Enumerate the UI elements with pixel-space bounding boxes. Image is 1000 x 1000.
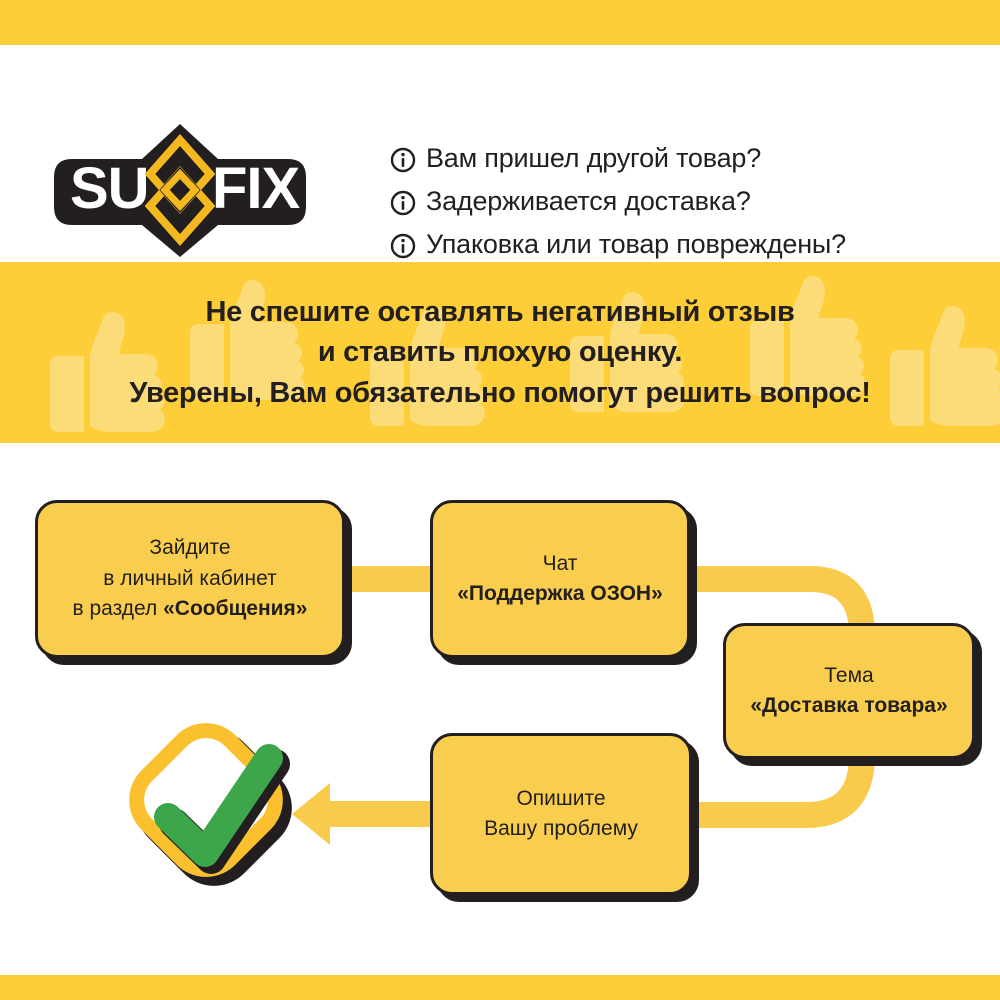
bottom-accent-bar	[0, 975, 1000, 1000]
node-line-normal: в раздел	[72, 597, 163, 620]
info-icon	[390, 233, 416, 259]
node-line-bold: «Сообщения»	[163, 597, 307, 620]
question-row: Вам пришел другой товар?	[390, 137, 990, 180]
banner-text-block: Не спешите оставлять негативный отзыв и …	[0, 262, 1000, 443]
flow-node-chat[interactable]: Чат «Поддержка ОЗОН»	[430, 500, 690, 658]
flowchart-section: Зайдите в личный кабинет в раздел «Сообщ…	[0, 443, 1000, 975]
flow-node-topic[interactable]: Тема «Доставка товара»	[723, 623, 975, 759]
node-line: Тема	[824, 661, 873, 691]
svg-text:SU: SU	[70, 156, 149, 221]
banner-line: Уверены, Вам обязательно помогут решить …	[129, 375, 870, 411]
question-text: Вам пришел другой товар?	[426, 143, 761, 174]
infographic-root: SU FIX	[0, 0, 1000, 1000]
node-line: в раздел «Сообщения»	[72, 594, 307, 624]
check-mark-badge-icon	[113, 713, 313, 908]
question-text: Задерживается доставка?	[426, 186, 751, 217]
question-row: Упаковка или товар повреждены?	[390, 223, 990, 266]
svg-text:FIX: FIX	[212, 156, 301, 221]
question-row: Задерживается доставка?	[390, 180, 990, 223]
flow-node-account[interactable]: Зайдите в личный кабинет в раздел «Сообщ…	[35, 500, 345, 658]
node-line-bold: «Доставка товара»	[750, 691, 947, 721]
banner-line: и ставить плохую оценку.	[318, 334, 682, 370]
node-line: Зайдите	[149, 533, 230, 563]
flow-node-describe[interactable]: Опишите Вашу проблему	[430, 733, 692, 895]
node-line-bold: «Поддержка ОЗОН»	[457, 579, 663, 609]
connector-4-result-arrow	[292, 783, 440, 845]
question-text: Упаковка или товар повреждены?	[426, 229, 846, 260]
node-line: в личный кабинет	[103, 564, 276, 594]
top-accent-bar	[0, 0, 1000, 45]
brand-logo: SU FIX	[44, 118, 316, 263]
question-list: Вам пришел другой товар? Задерживается д…	[390, 137, 990, 266]
node-line: Опишите	[516, 784, 605, 814]
header-section: SU FIX	[0, 45, 1000, 262]
callout-banner: Не спешите оставлять негативный отзыв и …	[0, 262, 1000, 443]
connector-1-2	[338, 566, 438, 592]
info-icon	[390, 147, 416, 173]
node-line: Вашу проблему	[484, 814, 638, 844]
info-icon	[390, 190, 416, 216]
banner-line: Не спешите оставлять негативный отзыв	[206, 294, 795, 330]
node-line: Чат	[543, 549, 578, 579]
